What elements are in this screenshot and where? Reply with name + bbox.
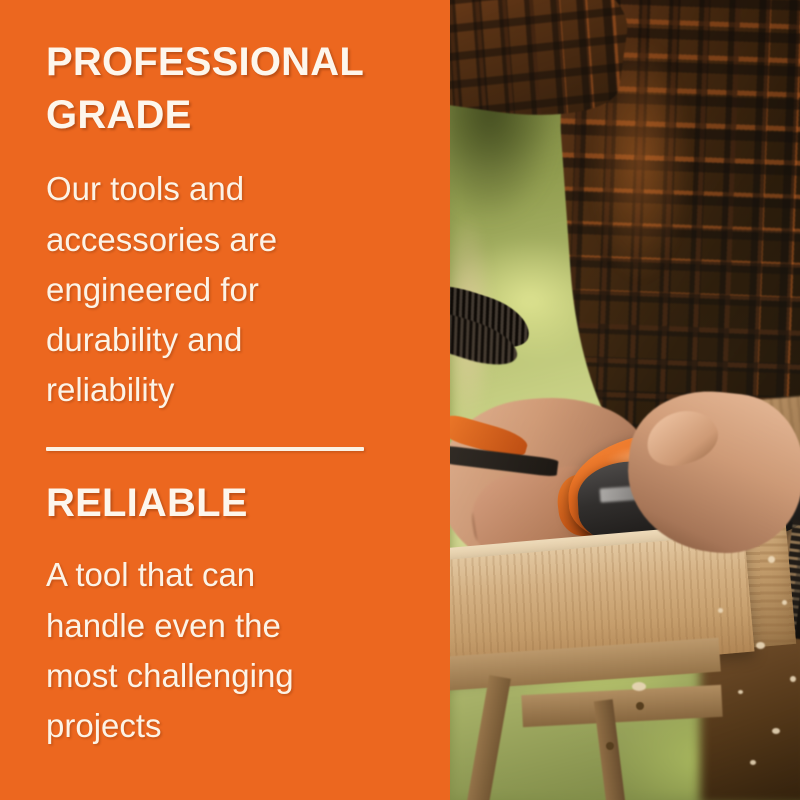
sawdust-particle xyxy=(772,728,780,734)
section-professional-grade: PROFESSIONAL GRADE Our tools and accesso… xyxy=(46,36,404,415)
section-divider xyxy=(46,447,364,451)
headline-reliable: RELIABLE xyxy=(46,477,376,530)
sawdust-particle xyxy=(756,642,765,649)
sawdust-particle xyxy=(790,676,796,682)
sawhorse-peg-upper xyxy=(636,702,644,710)
sawdust-particle xyxy=(768,556,775,563)
sawdust-particle xyxy=(718,608,723,613)
section-reliable: RELIABLE A tool that can handle even the… xyxy=(46,477,404,751)
body-reliable: A tool that can handle even the most cha… xyxy=(46,550,346,751)
text-panel: PROFESSIONAL GRADE Our tools and accesso… xyxy=(0,0,450,800)
sawdust-particle xyxy=(738,690,743,694)
sawdust-particle xyxy=(782,600,787,605)
sawdust-particle xyxy=(750,760,756,765)
sawhorse-peg-lower xyxy=(606,742,614,750)
sawdust-pile xyxy=(632,682,646,691)
product-photo xyxy=(450,0,800,800)
body-professional-grade: Our tools and accessories are engineered… xyxy=(46,164,346,415)
headline-professional-grade: PROFESSIONAL GRADE xyxy=(46,36,376,142)
promo-banner: PROFESSIONAL GRADE Our tools and accesso… xyxy=(0,0,800,800)
